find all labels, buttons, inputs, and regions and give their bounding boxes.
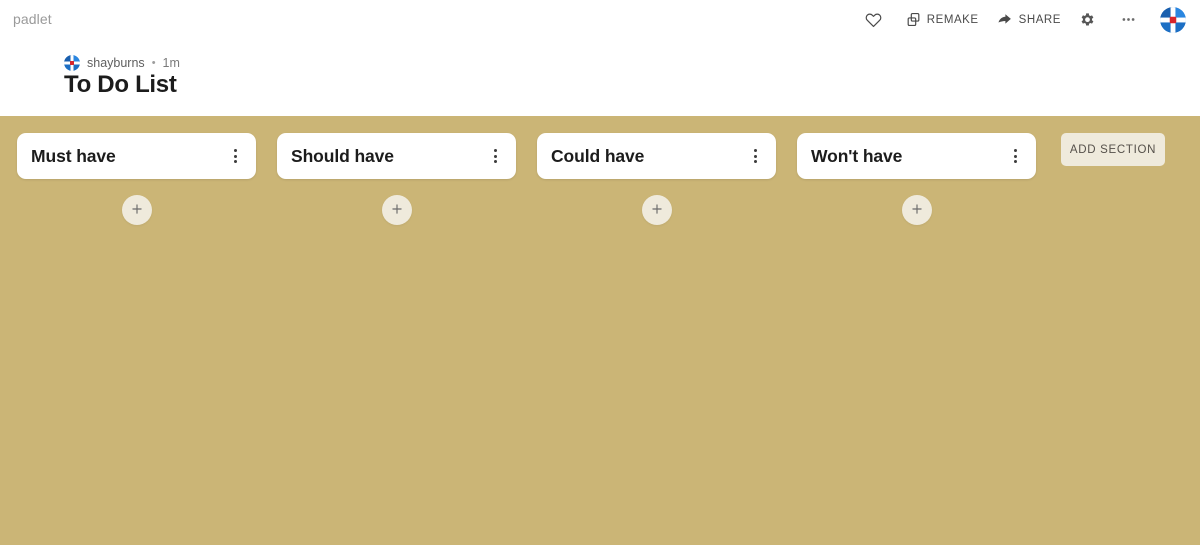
section-card[interactable]: Could have — [537, 133, 776, 179]
plus-icon — [910, 202, 924, 219]
byline: shayburns • 1m — [64, 54, 180, 72]
add-section-button[interactable]: ADD SECTION — [1061, 133, 1165, 166]
section-title: Should have — [291, 146, 484, 167]
board-timestamp: 1m — [163, 56, 180, 70]
page-title[interactable]: To Do List — [64, 71, 177, 99]
add-post-wrapper — [17, 195, 256, 225]
remake-label: REMAKE — [927, 14, 979, 26]
section-menu-button[interactable] — [744, 143, 766, 169]
section-column: Must have — [17, 133, 256, 225]
byline-separator: • — [152, 58, 156, 69]
add-post-button[interactable] — [122, 195, 152, 225]
section-card[interactable]: Should have — [277, 133, 516, 179]
add-post-wrapper — [277, 195, 516, 225]
share-button[interactable]: SHARE — [988, 5, 1070, 35]
ellipsis-horizontal-icon — [1120, 11, 1137, 28]
kebab-dot-icon — [1014, 160, 1017, 163]
section-column: Won't have — [797, 133, 1036, 225]
gear-icon — [1079, 11, 1096, 28]
user-avatar-icon — [1160, 21, 1186, 33]
section-title: Won't have — [811, 146, 1004, 167]
top-bar: padlet REMAKE — [0, 0, 1200, 39]
kebab-dot-icon — [494, 155, 497, 158]
kebab-dot-icon — [234, 149, 237, 152]
add-post-button[interactable] — [642, 195, 672, 225]
section-menu-button[interactable] — [484, 143, 506, 169]
more-options-button[interactable] — [1111, 5, 1152, 35]
section-menu-button[interactable] — [1004, 143, 1026, 169]
kebab-dot-icon — [1014, 155, 1017, 158]
add-post-wrapper — [537, 195, 776, 225]
board-header: shayburns • 1m To Do List — [0, 39, 1200, 116]
plus-icon — [650, 202, 664, 219]
top-bar-actions: REMAKE SHARE — [856, 0, 1186, 39]
padlet-logo[interactable]: padlet — [13, 11, 52, 27]
board-canvas[interactable]: Must have Should have — [0, 116, 1200, 545]
plus-icon — [130, 202, 144, 219]
section-title: Must have — [31, 146, 224, 167]
add-post-button[interactable] — [382, 195, 412, 225]
add-post-button[interactable] — [902, 195, 932, 225]
plus-icon — [390, 202, 404, 219]
kebab-dot-icon — [234, 155, 237, 158]
section-card[interactable]: Must have — [17, 133, 256, 179]
section-card[interactable]: Won't have — [797, 133, 1036, 179]
kebab-dot-icon — [494, 160, 497, 163]
like-button[interactable] — [856, 5, 897, 35]
author-avatar-icon — [64, 55, 80, 71]
share-arrow-icon — [997, 12, 1013, 28]
share-label: SHARE — [1019, 14, 1061, 26]
section-column: Should have — [277, 133, 516, 225]
remake-button[interactable]: REMAKE — [897, 5, 988, 35]
settings-button[interactable] — [1070, 5, 1111, 35]
kebab-dot-icon — [1014, 149, 1017, 152]
section-menu-button[interactable] — [224, 143, 246, 169]
add-post-wrapper — [797, 195, 1036, 225]
kebab-dot-icon — [754, 160, 757, 163]
section-columns: Must have Should have — [17, 133, 1036, 225]
remake-icon — [906, 12, 921, 27]
kebab-dot-icon — [494, 149, 497, 152]
kebab-dot-icon — [234, 160, 237, 163]
section-column: Could have — [537, 133, 776, 225]
author-name[interactable]: shayburns — [87, 56, 145, 70]
heart-icon — [865, 11, 882, 28]
section-title: Could have — [551, 146, 744, 167]
kebab-dot-icon — [754, 155, 757, 158]
user-avatar-button[interactable] — [1160, 7, 1186, 33]
kebab-dot-icon — [754, 149, 757, 152]
